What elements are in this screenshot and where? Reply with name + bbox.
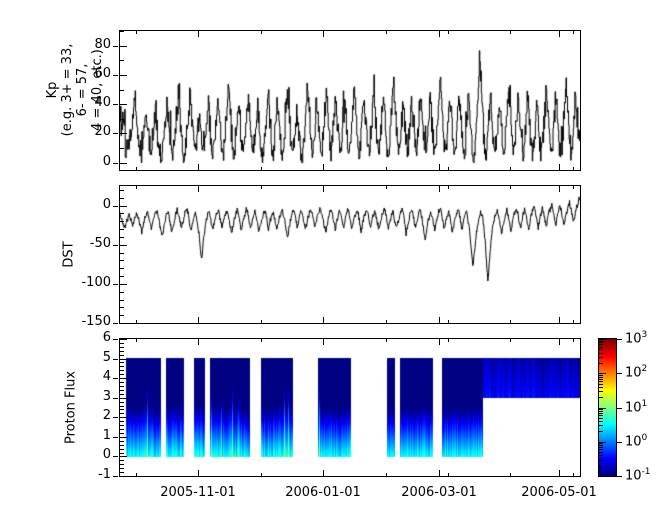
kp-y-major-tick [120,133,127,134]
kp-title-line-0: Kp [45,10,60,170]
dst-x-minor-tick-top [510,186,511,189]
kp-y-major-tick [120,163,127,164]
colorbar-minor-tick [599,353,603,354]
pf-y-minor-tick [120,386,124,387]
kp-y-tick-dash [113,75,118,76]
kp-x-major-tick-bottom [559,164,560,170]
x-tick-label: 2006-05-01 [499,485,619,500]
colorbar-minor-tick [599,415,603,416]
pf-y-tick-label: 2 [63,408,111,423]
pf-y-major-tick [120,339,127,340]
pf-x-major-tick-top [323,339,324,345]
dst-y-minor-tick [120,198,124,199]
pf-y-major-tick [120,359,127,360]
kp-y-tick-label: 40 [63,95,111,110]
colorbar-minor-tick [599,455,603,456]
dst-y-major-tick [120,323,127,324]
pf-y-tick-label: 1 [63,428,111,443]
pf-y-tick-dash [113,437,118,438]
pf-y-minor-tick [120,362,124,363]
colorbar-minor-tick [599,377,603,378]
kp-y-minor-tick [120,148,124,149]
colorbar-minor-tick [599,452,603,453]
pf-y-major-tick [120,437,127,438]
colorbar-minor-tick [599,418,603,419]
colorbar-minor-tick [599,349,603,350]
dst-x-minor-tick-bottom [386,320,387,323]
pf-y-tick-label: 4 [63,369,111,384]
kp-title-line-3: 4 = 40, etc.) [90,10,105,170]
kp-x-minor-tick-bottom [386,167,387,170]
pf-y-tick-label: 3 [63,389,111,404]
pf-y-minor-tick [120,460,124,461]
dst-y-minor-tick [120,292,124,293]
colorbar-minor-tick [599,409,603,410]
dst-y-tick-dash [113,206,118,207]
proton-flux-heatmap-canvas [120,339,580,476]
dst-x-minor-tick-bottom [261,320,262,323]
dst-x-minor-tick-top [386,186,387,189]
pf-x-minor-tick-top [448,339,449,342]
dst-y-minor-tick [120,276,124,277]
colorbar-minor-tick [599,411,603,412]
kp-y-tick-dash [113,104,118,105]
colorbar-tick-exponent: -1 [642,467,651,477]
colorbar-tick-label: 10-1 [625,467,651,483]
pf-y-minor-tick [120,449,124,450]
dst-y-minor-tick [120,221,124,222]
kp-x-major-tick-top [559,31,560,37]
dst-y-minor-tick [120,237,124,238]
dst-x-major-tick-top [559,186,560,192]
colorbar-tick-mantissa: 10 [625,331,642,346]
pf-y-tick-label: 6 [63,330,111,345]
x-tick-label: 2006-01-01 [263,485,383,500]
dst-y-major-tick [120,206,127,207]
dst-x-minor-tick-bottom [448,320,449,323]
colorbar-tick-dash [617,373,622,374]
dst-y-minor-tick [120,260,124,261]
pf-y-minor-tick [120,464,124,465]
pf-y-major-tick [120,378,127,379]
dst-y-minor-tick [120,268,124,269]
pf-x-minor-tick-top [510,339,511,342]
colorbar-minor-tick [599,344,603,345]
pf-x-minor-tick-bottom [386,473,387,476]
kp-x-major-tick-top [439,31,440,37]
kp-title-line-2: 6- = 57, [75,10,90,170]
dst-plot-canvas [120,186,580,323]
dst-x-major-tick-bottom [439,317,440,323]
pf-y-minor-tick [120,366,124,367]
dst-y-tick-label: -50 [63,236,111,251]
kp-x-minor-tick-bottom [573,167,574,170]
pf-y-tick-dash [113,339,118,340]
kp-x-major-tick-bottom [323,164,324,170]
dst-y-major-tick [120,245,127,246]
pf-x-major-tick-top [559,339,560,345]
pf-x-major-tick-top [198,339,199,345]
pf-x-minor-tick-top [261,339,262,342]
dst-x-major-tick-bottom [559,317,560,323]
kp-y-tick-label: 80 [63,37,111,52]
kp-x-minor-tick-top [261,31,262,34]
pf-y-tick-label: 0 [63,447,111,462]
kp-x-major-tick-top [323,31,324,37]
kp-y-minor-tick [120,60,124,61]
pf-x-major-tick-top [439,339,440,345]
pf-y-minor-tick [120,390,124,391]
kp-y-tick-dash [113,133,118,134]
pf-y-minor-tick [120,429,124,430]
panel-kp [119,30,581,171]
colorbar-tick-dash [617,339,622,340]
colorbar-tick-exponent: 0 [642,433,648,443]
dst-y-minor-tick [120,190,124,191]
kp-axis-title: Kp(e.g. 3+ = 33,6- = 57,4 = 40, etc.) [45,10,105,170]
dst-x-major-tick-bottom [323,317,324,323]
x-tick-label: 2005-11-01 [138,485,258,500]
pf-y-minor-tick [120,421,124,422]
dst-y-minor-tick [120,315,124,316]
dst-x-minor-tick-top [573,186,574,189]
dst-y-major-tick [120,284,127,285]
pf-x-major-tick-bottom [323,470,324,476]
colorbar-tick-label: 102 [625,364,647,380]
kp-y-tick-label: 20 [63,124,111,139]
colorbar-minor-tick [599,391,603,392]
pf-y-minor-tick [120,370,124,371]
pf-y-major-tick [120,476,127,477]
kp-y-tick-label: 60 [63,66,111,81]
colorbar-tick-mantissa: 10 [625,434,642,449]
pf-x-major-tick-bottom [439,470,440,476]
colorbar-minor-tick [599,347,603,348]
colorbar-minor-tick [599,431,603,432]
pf-y-tick-dash [113,476,118,477]
kp-plot-canvas [120,31,580,170]
kp-x-minor-tick-top [136,31,137,34]
pf-y-minor-tick [120,351,124,352]
pf-y-minor-tick [120,413,124,414]
kp-y-tick-dash [113,46,118,47]
dst-y-minor-tick [120,300,124,301]
kp-x-minor-tick-bottom [510,167,511,170]
colorbar-tick-exponent: 1 [642,399,648,409]
pf-y-minor-tick [120,347,124,348]
pf-y-minor-tick [120,406,124,407]
pf-y-tick-dash [113,456,118,457]
pf-x-minor-tick-bottom [261,473,262,476]
dst-x-minor-tick-top [136,186,137,189]
panel-dst [119,185,581,324]
dst-y-minor-tick [120,307,124,308]
colorbar-minor-tick [599,381,603,382]
kp-x-minor-tick-bottom [261,167,262,170]
colorbar-minor-tick [599,357,603,358]
pf-y-minor-tick [120,472,124,473]
colorbar-tick-dash [617,476,622,477]
dst-x-minor-tick-bottom [573,320,574,323]
colorbar-tick-mantissa: 10 [625,365,642,380]
dst-y-tick-dash [113,323,118,324]
kp-y-major-tick [120,104,127,105]
pf-x-minor-tick-bottom [510,473,511,476]
colorbar-minor-tick [599,379,603,380]
pf-y-tick-label: -1 [63,467,111,482]
pf-y-major-tick [120,456,127,457]
colorbar-major-tick [599,373,606,374]
dst-y-tick-dash [113,284,118,285]
pf-y-major-tick [120,398,127,399]
dst-y-tick-label: -100 [63,275,111,290]
colorbar-minor-tick [599,425,603,426]
kp-y-minor-tick [120,119,124,120]
pf-y-minor-tick [120,433,124,434]
pf-y-minor-tick [120,382,124,383]
pf-y-minor-tick [120,425,124,426]
pf-y-minor-tick [120,343,124,344]
dst-x-minor-tick-bottom [136,320,137,323]
dst-y-tick-label: 0 [63,197,111,212]
colorbar-tick-mantissa: 10 [625,468,642,483]
colorbar-minor-tick [599,413,603,414]
colorbar-minor-tick [599,445,603,446]
colorbar-tick-label: 100 [625,433,647,449]
kp-x-major-tick-top [198,31,199,37]
colorbar-major-tick [599,476,606,477]
pf-x-minor-tick-bottom [136,473,137,476]
kp-y-major-tick [120,46,127,47]
kp-y-minor-tick [120,31,124,32]
pf-y-tick-dash [113,378,118,379]
pf-y-minor-tick [120,402,124,403]
colorbar-tick-label: 101 [625,399,647,415]
pf-x-minor-tick-top [136,339,137,342]
colorbar-minor-tick [599,363,603,364]
kp-x-minor-tick-top [573,31,574,34]
colorbar-minor-tick [599,449,603,450]
x-tick-label: 2006-03-01 [379,485,499,500]
colorbar-tick-exponent: 3 [642,330,648,340]
dst-x-major-tick-bottom [198,317,199,323]
colorbar-minor-tick [599,421,603,422]
dst-y-minor-tick [120,229,124,230]
dst-x-minor-tick-bottom [510,320,511,323]
pf-y-minor-tick [120,441,124,442]
kp-title-line-1: (e.g. 3+ = 33, [60,10,75,170]
colorbar-tick-exponent: 2 [642,364,648,374]
dst-x-minor-tick-top [448,186,449,189]
kp-x-major-tick-bottom [198,164,199,170]
dst-y-minor-tick [120,253,124,254]
colorbar-minor-tick [599,341,603,342]
dst-y-tick-dash [113,245,118,246]
pf-y-minor-tick [120,453,124,454]
panel-proton-flux [119,338,581,477]
kp-x-major-tick-bottom [439,164,440,170]
colorbar-minor-tick [599,466,603,467]
pf-x-minor-tick-bottom [448,473,449,476]
colorbar-tick-mantissa: 10 [625,400,642,415]
kp-x-minor-tick-top [386,31,387,34]
dst-y-minor-tick [120,213,124,214]
pf-y-minor-tick [120,394,124,395]
colorbar-minor-tick [599,397,603,398]
pf-y-major-tick [120,417,127,418]
pf-x-minor-tick-bottom [573,473,574,476]
kp-y-major-tick [120,75,127,76]
pf-y-minor-tick [120,409,124,410]
pf-y-minor-tick [120,445,124,446]
colorbar-minor-tick [599,387,603,388]
pf-y-tick-dash [113,398,118,399]
pf-x-minor-tick-top [386,339,387,342]
kp-x-minor-tick-bottom [448,167,449,170]
figure-root: Kp(e.g. 3+ = 33,6- = 57,4 = 40, etc.) DS… [0,0,665,523]
colorbar-tick-label: 103 [625,330,647,346]
colorbar-minor-tick [599,460,603,461]
kp-x-minor-tick-top [448,31,449,34]
pf-x-major-tick-bottom [559,470,560,476]
pf-y-tick-label: 5 [63,350,111,365]
pf-y-minor-tick [120,374,124,375]
pf-x-minor-tick-top [573,339,574,342]
dst-x-major-tick-top [439,186,440,192]
pf-x-major-tick-bottom [198,470,199,476]
kp-y-minor-tick [120,90,124,91]
kp-x-minor-tick-top [510,31,511,34]
dst-x-major-tick-top [323,186,324,192]
colorbar-tick-dash [617,442,622,443]
colorbar-tick-dash [617,408,622,409]
dst-x-minor-tick-top [261,186,262,189]
pf-y-minor-tick [120,468,124,469]
colorbar-major-tick [599,339,606,340]
pf-y-tick-dash [113,417,118,418]
colorbar-minor-tick [599,443,603,444]
colorbar-minor-tick [599,447,603,448]
kp-y-tick-dash [113,163,118,164]
dst-x-major-tick-top [198,186,199,192]
dst-y-tick-label: -150 [63,314,111,329]
pf-y-tick-dash [113,359,118,360]
kp-x-minor-tick-bottom [136,167,137,170]
colorbar-minor-tick [599,384,603,385]
kp-y-tick-label: 0 [63,154,111,169]
colorbar-minor-tick [599,375,603,376]
colorbar-minor-tick [599,342,603,343]
pf-y-minor-tick [120,355,124,356]
